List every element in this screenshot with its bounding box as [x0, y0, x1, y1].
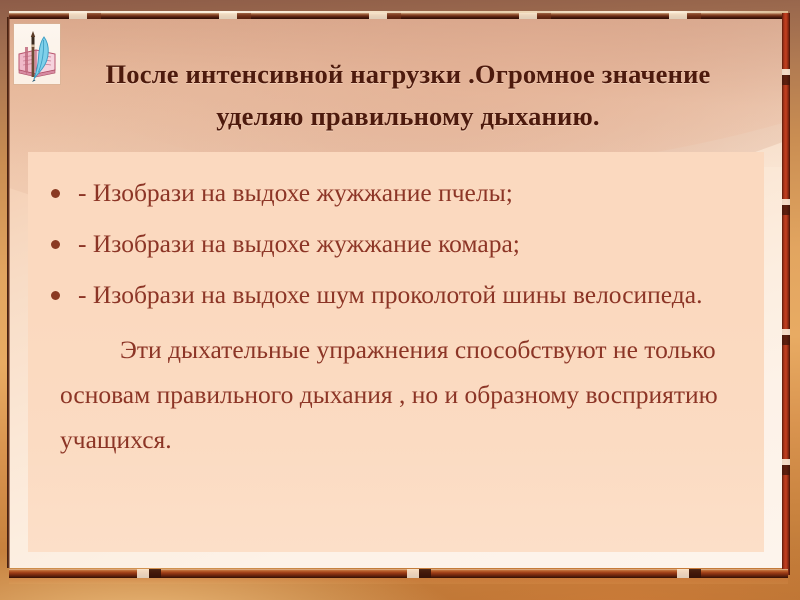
list-item: - Изобрази на выдохе шум проколотой шины…: [28, 272, 764, 317]
frame-rail-bottom: [9, 569, 788, 578]
body-paragraph: Эти дыхательные упражнения способствуют …: [28, 327, 764, 462]
frame-rail-right: [782, 13, 790, 575]
frame-rail-bottom-glow: [9, 577, 788, 584]
presentation-slide: После интенсивной нагрузки .Огромное зна…: [0, 0, 800, 600]
slide-content-panel: - Изобрази на выдохе жужжание пчелы; - И…: [28, 152, 764, 552]
frame-rail-top-highlight: [9, 11, 788, 13]
bullet-list: - Изобрази на выдохе жужжание пчелы; - И…: [28, 152, 764, 317]
page-title: После интенсивной нагрузки .Огромное зна…: [67, 53, 749, 137]
list-item: - Изобрази на выдохе жужжание пчелы;: [28, 170, 764, 215]
list-item: - Изобрази на выдохе жужжание комара;: [28, 221, 764, 266]
slide-title-block: После интенсивной нагрузки .Огромное зна…: [9, 19, 783, 152]
